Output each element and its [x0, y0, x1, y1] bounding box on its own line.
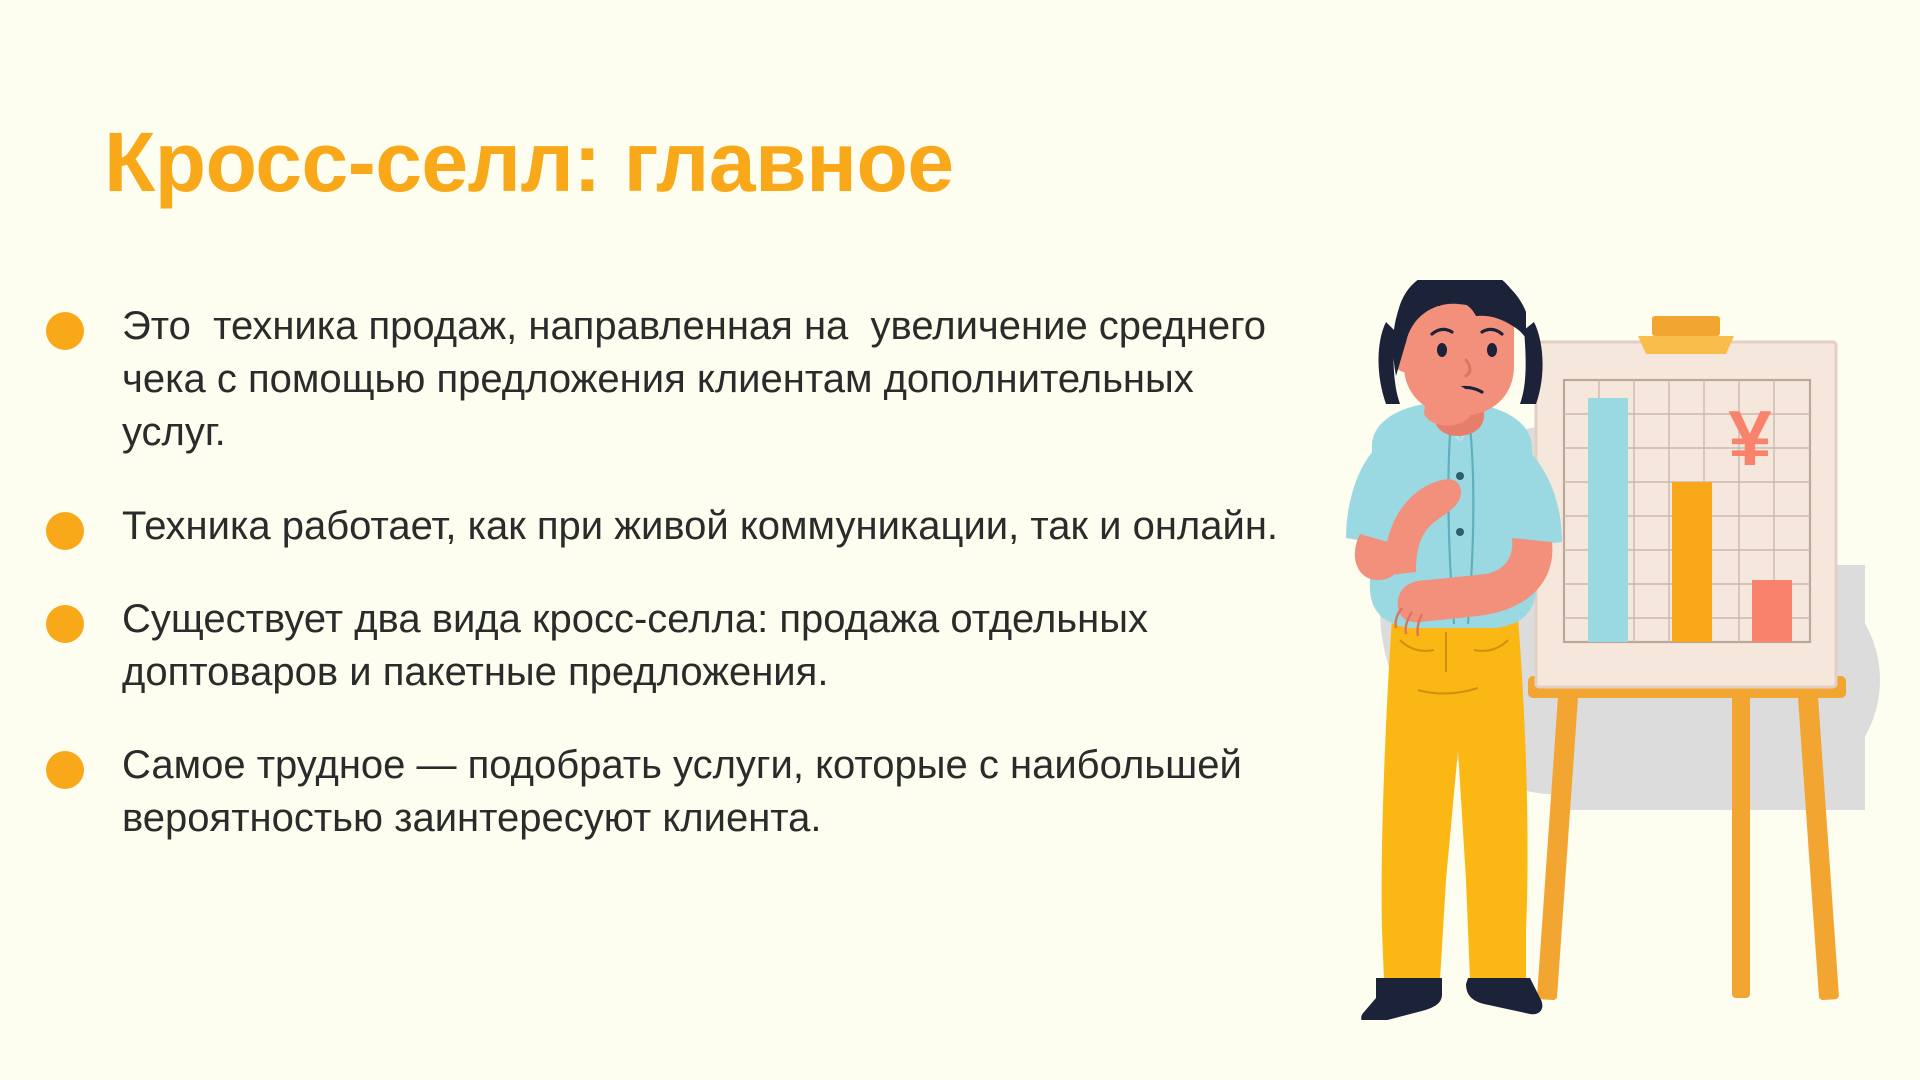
bullet-text: Техника работает, как при живой коммуник…: [122, 500, 1302, 553]
bullet-dot-icon: [46, 312, 84, 350]
bullet-dot-icon: [46, 605, 84, 643]
bullet-dot-icon: [46, 512, 84, 550]
list-item: Техника работает, как при живой коммуник…: [40, 500, 1360, 553]
currency-symbol: ¥: [1728, 394, 1772, 482]
bar-blue: [1588, 398, 1628, 642]
bullet-list: Это техника продаж, направленная на увел…: [40, 300, 1360, 846]
bullet-text: Существует два вида кросс-селла: продажа…: [122, 593, 1252, 699]
bar-red: [1752, 580, 1792, 642]
bar-orange: [1672, 482, 1712, 642]
shoes: [1361, 978, 1542, 1020]
list-item: Это техника продаж, направленная на увел…: [40, 300, 1360, 460]
bullet-text: Это техника продаж, направленная на увел…: [122, 300, 1282, 460]
bullet-text: Самое трудное — подобрать услуги, которы…: [122, 739, 1272, 845]
list-item: Существует два вида кросс-селла: продажа…: [40, 593, 1360, 699]
list-item: Самое трудное — подобрать услуги, которы…: [40, 739, 1360, 845]
bullet-dot-icon: [46, 751, 84, 789]
slide-root: Кросс-селл: главное Это техника продаж, …: [0, 0, 1920, 1080]
board-clamp: [1638, 316, 1734, 354]
illustration-thinking-woman-with-chart: ¥: [1300, 280, 1920, 1020]
page-title: Кросс-селл: главное: [104, 118, 954, 206]
chart-board: ¥: [1536, 342, 1836, 687]
